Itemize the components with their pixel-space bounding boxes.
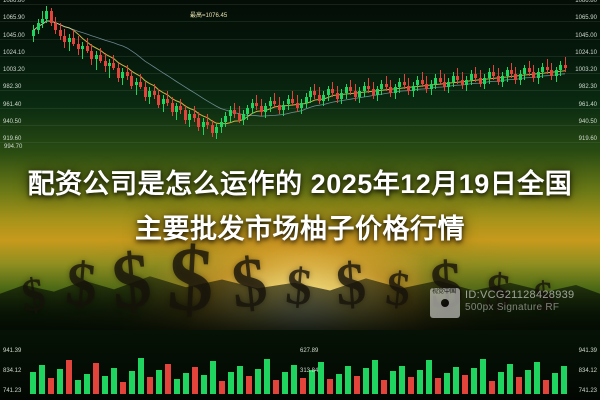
candle-55 [278,0,281,152]
volume-bar-47 [453,346,459,400]
volume-bar-33 [327,346,333,400]
top-axis-label-left-3: 1024.10 [3,50,25,57]
candle-25 [144,0,147,152]
candle-108 [514,0,517,152]
candle-51 [260,0,263,152]
volume-bar-16 [174,346,180,400]
top-candlestick-chart: 1086.801065.901045.001024.101003.20982.3… [0,0,600,152]
candle-104 [497,0,500,152]
top-axis-label-right-1: 1065.90 [575,15,597,22]
title-band: 配资公司是怎么运作的 2025年12月19日全国 主要批发市场柚子价格行情 [0,152,600,252]
watermark-logo-text: 视觉中国 [432,289,456,296]
candle-64 [318,0,321,152]
candle-112 [532,0,535,152]
volume-bar-14 [156,346,162,400]
candle-36 [193,0,196,152]
candle-92 [443,0,446,152]
volume-bar-17 [183,346,189,400]
candle-41 [215,0,218,152]
bottom-axis-label-right-0: 941.39 [579,348,597,355]
volume-bar-9 [111,346,117,400]
bottom-axis-label-left-1: 834.12 [3,368,21,375]
volume-bar-28 [282,346,288,400]
candle-46 [238,0,241,152]
candle-91 [439,0,442,152]
watermark-signature: 500px Signature RF [465,302,574,314]
candle-30 [166,0,169,152]
candle-69 [340,0,343,152]
candle-56 [282,0,285,152]
candle-26 [148,0,151,152]
volume-bar-41 [399,346,405,400]
bottom-axis-label-right-2: 741.23 [579,388,597,395]
volume-bar-43 [417,346,423,400]
volume-bar-59 [561,346,567,400]
volume-bar-18 [192,346,198,400]
volume-bar-2 [48,346,54,400]
volume-bar-36 [354,346,360,400]
bottom-volume-chart: 941.39834.12741.23627.89313.84 941.39834… [0,346,600,400]
candle-39 [206,0,209,152]
volume-bar-42 [408,346,414,400]
candle-94 [452,0,455,152]
candle-85 [412,0,415,152]
candle-9 [72,0,75,152]
volume-bar-6 [84,346,90,400]
page-title-line-1: 配资公司是怎么运作的 2025年12月19日全国 [28,162,573,201]
volume-bar-54 [516,346,522,400]
candle-45 [233,0,236,152]
volume-bar-1 [39,346,45,400]
candle-118 [559,0,562,152]
volume-bar-10 [120,346,126,400]
candle-103 [492,0,495,152]
candle-37 [197,0,200,152]
candle-63 [313,0,316,152]
top-axis-label-right-3: 1024.10 [575,50,597,57]
candle-7 [63,0,66,152]
volume-bar-34 [336,346,342,400]
candle-102 [488,0,491,152]
visual-china-logo-icon: 视觉中国 [430,288,460,318]
candle-14 [95,0,98,152]
candle-98 [470,0,473,152]
dollar-sign-5: $ [283,257,314,318]
chart-corner-label: 994.70 [4,144,22,151]
volume-bar-45 [435,346,441,400]
volume-bar-11 [129,346,135,400]
candle-70 [345,0,348,152]
candle-57 [287,0,290,152]
candle-74 [363,0,366,152]
bottom-label-mid: 627.89 [300,348,318,355]
volume-bar-49 [471,346,477,400]
bottom-axis-label-left-2: 741.23 [3,388,21,395]
candle-47 [242,0,245,152]
volume-bar-24 [246,346,252,400]
candle-35 [188,0,191,152]
candle-81 [394,0,397,152]
page-title-line-2: 主要批发市场柚子价格行情 [135,207,465,246]
bottom-label-mid-2: 313.84 [300,368,318,375]
candle-1 [37,0,40,152]
top-axis-label-right-6: 961.40 [579,102,597,109]
candle-84 [407,0,410,152]
volume-bar-19 [201,346,207,400]
top-axis-label-left-1: 1065.90 [3,15,25,22]
volume-bar-51 [489,346,495,400]
candle-61 [305,0,308,152]
candle-101 [483,0,486,152]
candle-68 [336,0,339,152]
volume-bar-12 [138,346,144,400]
volume-bar-3 [57,346,63,400]
logo-dot [441,299,449,307]
candle-88 [425,0,428,152]
candle-78 [380,0,383,152]
candle-115 [546,0,549,152]
volume-bar-32 [318,346,324,400]
candle-11 [81,0,84,152]
volume-bar-52 [498,346,504,400]
candle-93 [447,0,450,152]
candle-71 [349,0,352,152]
top-axis-label-right-4: 1003.20 [575,67,597,74]
candle-42 [220,0,223,152]
top-axis-label-left-0: 1086.80 [3,0,25,5]
volume-bar-46 [444,346,450,400]
watermark-id: ID:VCG21128428939 [465,289,574,302]
volume-bar-37 [363,346,369,400]
candle-12 [86,0,89,152]
candle-43 [224,0,227,152]
top-axis-label-left-4: 1003.20 [3,67,25,74]
volume-bar-4 [66,346,72,400]
candle-77 [376,0,379,152]
candle-114 [541,0,544,152]
candle-4 [50,0,53,152]
volume-bar-35 [345,346,351,400]
candle-24 [139,0,142,152]
candle-113 [537,0,540,152]
bottom-axis-label-right-1: 834.12 [579,368,597,375]
volume-bar-58 [552,346,558,400]
candle-87 [421,0,424,152]
volume-bar-39 [381,346,387,400]
candle-34 [184,0,187,152]
candle-75 [367,0,370,152]
candle-19 [117,0,120,152]
candle-33 [179,0,182,152]
candle-72 [354,0,357,152]
candle-18 [112,0,115,152]
volume-bar-48 [462,346,468,400]
candle-58 [291,0,294,152]
volume-bar-55 [525,346,531,400]
volume-bar-20 [210,346,216,400]
volume-bar-44 [426,346,432,400]
volume-bar-56 [534,346,540,400]
candle-23 [135,0,138,152]
candle-62 [309,0,312,152]
candle-105 [501,0,504,152]
volume-bar-25 [255,346,261,400]
candle-107 [510,0,513,152]
watermark: 视觉中国 ID:VCG21128428939 500px Signature R… [430,288,574,318]
candle-106 [506,0,509,152]
volume-bar-53 [507,346,513,400]
candle-10 [77,0,80,152]
candle-27 [153,0,156,152]
candle-97 [465,0,468,152]
candle-54 [273,0,276,152]
candle-22 [130,0,133,152]
candle-76 [372,0,375,152]
volume-bar-23 [237,346,243,400]
top-axis-label-left-2: 1045.00 [3,33,25,40]
top-axis-label-left-8: 919.60 [3,136,21,143]
top-axis-label-right-7: 940.50 [579,119,597,126]
volume-bar-15 [165,346,171,400]
volume-bar-5 [75,346,81,400]
candle-110 [523,0,526,152]
candle-66 [327,0,330,152]
dollar-sign-6: $ [334,249,369,320]
candle-8 [68,0,71,152]
top-axis-label-right-5: 982.30 [579,84,597,91]
top-axis-label-right-0: 1086.80 [575,0,597,5]
chart-annotation-high: 最高=1076.45 [190,10,227,19]
candle-73 [358,0,361,152]
candle-44 [229,0,232,152]
volume-bar-57 [543,346,549,400]
candle-89 [430,0,433,152]
volume-bar-0 [30,346,36,400]
volume-bar-22 [228,346,234,400]
volume-bar-38 [372,346,378,400]
candle-17 [108,0,111,152]
candle-38 [202,0,205,152]
candle-50 [255,0,258,152]
candle-0 [32,0,35,152]
top-axis-label-left-6: 961.40 [3,102,21,109]
screenshot-root: $$$$$$$$$$$ 1086.801065.901045.001024.10… [0,0,600,400]
candle-82 [398,0,401,152]
volume-bar-50 [480,346,486,400]
volume-bar-29 [291,346,297,400]
candle-21 [126,0,129,152]
top-axis-label-right-8: 919.60 [579,136,597,143]
volume-bar-21 [219,346,225,400]
candle-119 [564,0,567,152]
top-axis-label-left-5: 982.30 [3,84,21,91]
candle-111 [528,0,531,152]
candle-40 [211,0,214,152]
candle-83 [403,0,406,152]
candle-16 [104,0,107,152]
watermark-text-block: ID:VCG21128428939 500px Signature RF [465,288,574,314]
candle-117 [555,0,558,152]
candle-109 [519,0,522,152]
candle-60 [300,0,303,152]
top-axis-label-left-7: 940.50 [3,119,21,126]
candle-29 [162,0,165,152]
candle-3 [45,0,48,152]
volume-bar-8 [102,346,108,400]
volume-bar-7 [93,346,99,400]
candle-59 [296,0,299,152]
candle-80 [389,0,392,152]
candle-96 [461,0,464,152]
candle-49 [251,0,254,152]
candle-31 [171,0,174,152]
candle-13 [90,0,93,152]
bottom-axis-label-left-0: 941.39 [3,348,21,355]
top-axis-label-right-2: 1045.00 [575,33,597,40]
candle-48 [246,0,249,152]
candle-52 [264,0,267,152]
candle-65 [322,0,325,152]
candle-32 [175,0,178,152]
volume-bar-26 [264,346,270,400]
candle-95 [456,0,459,152]
candle-67 [331,0,334,152]
candle-28 [157,0,160,152]
candle-100 [479,0,482,152]
candle-20 [121,0,124,152]
candle-15 [99,0,102,152]
candle-86 [416,0,419,152]
volume-bar-13 [147,346,153,400]
candle-2 [41,0,44,152]
candle-5 [54,0,57,152]
candle-116 [550,0,553,152]
candle-90 [434,0,437,152]
candle-53 [269,0,272,152]
candle-6 [59,0,62,152]
volume-bar-40 [390,346,396,400]
dollar-sign-1: $ [64,249,100,322]
volume-bar-27 [273,346,279,400]
candle-99 [474,0,477,152]
candle-79 [385,0,388,152]
